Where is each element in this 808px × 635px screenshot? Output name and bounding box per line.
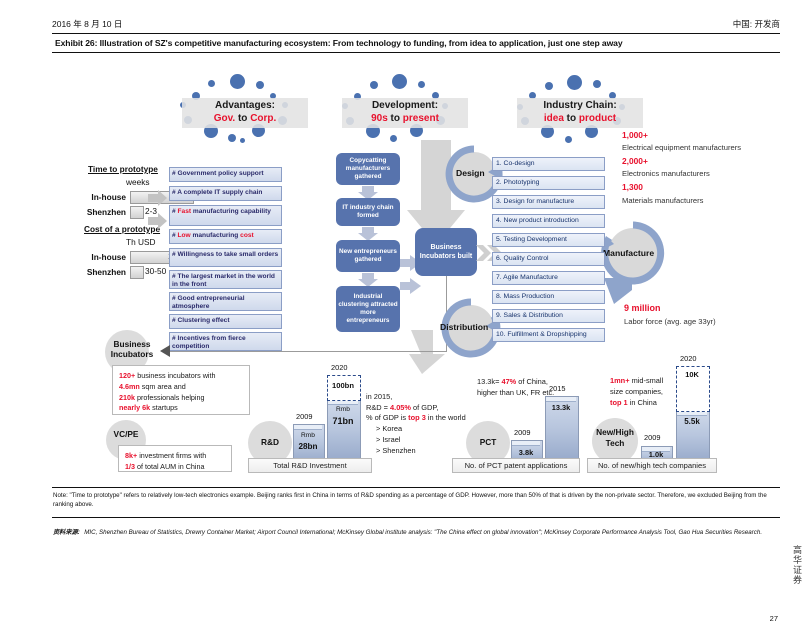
gdp-note-item-3: > Shenzhen (366, 446, 466, 457)
chain-step-8: 8. Mass Production (492, 290, 605, 304)
incubator-line-2: 4.6mn sqm area and (119, 382, 243, 393)
advantage-item-4: # Low manufacturing cost (169, 229, 282, 244)
arrow-down-icon (358, 273, 378, 287)
incubator-line-4: nearly 6k startups (119, 403, 243, 414)
incubator-line-3: 210k professionals helping (119, 393, 243, 404)
footer-divider-bottom (52, 517, 780, 518)
time-row-shenzhen-bar (130, 206, 144, 219)
development-box-3: New entrepreneurs gathered (336, 240, 400, 272)
pct-bar-2015-cap (546, 397, 576, 402)
labor-force-text: Labor force (avg. age 33yr) (624, 317, 716, 326)
chain-step-7: 7. Agile Manufacture (492, 271, 605, 285)
cluster-advantages-label: Advantages: Gov. to Corp. (182, 98, 308, 128)
tech-note-line-2: size companies, (610, 386, 663, 397)
pct-badge-label: PCT (466, 437, 510, 447)
stat-3-text: Materials manufacturers (622, 196, 703, 205)
advantage-item-7: # Good entrepreneurial atmosphere (169, 292, 282, 311)
rnd-chart-title: Total R&D Investment (248, 458, 372, 473)
cost-row-inhouse-label: In-house (78, 252, 126, 262)
advantage-item-2: # A complete IT supply chain (169, 186, 282, 201)
exhibit-divider (52, 52, 780, 53)
newhightech-badge-label: New/High Tech (588, 427, 642, 449)
tech-year-2009: 2009 (644, 433, 660, 442)
advantage-item-6: # The largest market in the world in the… (169, 270, 282, 289)
vcpe-callout: 8k+ investment firms with 1/3 of total A… (118, 445, 232, 472)
vcpe-line-2: 1/3 of total AUM in China (125, 462, 225, 473)
development-box-1: Copycatting manufacturers gathered (336, 153, 400, 185)
pct-bar-2009-cap (512, 441, 540, 446)
rnd-value-2015: 71bn (327, 416, 359, 426)
gdp-note-line-3: % of GDP is top 3 in the world (366, 413, 466, 424)
chain-step-1: 1. Co-design (492, 157, 605, 171)
time-to-prototype-title: Time to prototype (88, 164, 158, 174)
footer-divider-top (52, 487, 780, 488)
arrow-right-icon (148, 213, 168, 229)
chain-step-6: 6. Quality Control (492, 252, 605, 266)
tech-note-line-1: 1mn+ mid-small (610, 375, 663, 386)
gdp-note-line-1: in 2015, (366, 392, 466, 403)
pct-value-2015: 13.3k (545, 403, 577, 412)
chain-step-5: 5. Testing Development (492, 233, 605, 247)
header-right-label: 中国: 开发商 (733, 18, 780, 30)
stat-2-number: 2,000+ (622, 156, 648, 166)
callout-pointer-icon (604, 278, 632, 304)
chain-step-2: 2. Phototyping (492, 176, 605, 190)
time-row-shenzhen-label: Shenzhen (78, 207, 126, 217)
rnd-year-2009: 2009 (296, 412, 312, 421)
labor-force-number: 9 million (624, 303, 661, 313)
advantage-item-3: # Fast manufacturing capability (169, 205, 282, 226)
pct-note: 13.3k= 47% of China, higher than UK, FR … (477, 377, 554, 398)
tech-year-2020: 2020 (680, 354, 696, 363)
pct-note-line-2: higher than UK, FR etc. (477, 388, 554, 399)
advantage-item-1: # Government policy support (169, 167, 282, 182)
footer-source-text: MIC, Shenzhen Bureau of Statistics, Drew… (84, 529, 762, 536)
chain-step-9: 9. Sales & Distribution (492, 309, 605, 323)
cluster-development-label: Development: 90s to present (342, 98, 468, 128)
header-divider (52, 33, 780, 34)
gdp-note-item-2: > Israel (366, 435, 466, 446)
rnd-value-2020: 100bn (327, 381, 359, 390)
stat-1-number: 1,000+ (622, 130, 648, 140)
pct-value-2009: 3.8k (511, 448, 541, 457)
stat-2-text: Electronics manufacturers (622, 169, 710, 178)
vcpe-line-1: 8k+ investment firms with (125, 451, 225, 462)
business-incubators-callout: 120+ business incubators with 4.6mn sqm … (112, 365, 250, 415)
footer-note: Note: "Time to prototype" refers to rela… (53, 492, 779, 510)
tech-value-2020: 10K (676, 370, 708, 379)
rnd-year-2020: 2020 (331, 363, 347, 372)
time-row-inhouse-label: In-house (78, 192, 126, 202)
rnd-unit-2015: Rmb (327, 406, 359, 413)
cluster-industry-chain-label: Industry Chain: idea to product (517, 98, 643, 128)
pct-year-2009: 2009 (514, 428, 530, 437)
cost-row-shenzhen-bar (130, 266, 144, 279)
advantage-item-5: # Willingness to take small orders (169, 248, 282, 267)
tech-value-2015: 5.5k (676, 417, 708, 426)
rnd-badge-label: R&D (248, 437, 292, 447)
business-incubators-badge-label: Business Incubators (96, 339, 168, 360)
pct-year-2015: 2015 (549, 384, 565, 393)
arrow-right-icon (148, 190, 168, 206)
page-number: 27 (770, 614, 778, 623)
chain-step-4: 4. New product introduction (492, 214, 605, 228)
gdp-note: in 2015, R&D = 4.05% of GDP, % of GDP is… (366, 392, 466, 456)
gdp-note-item-1: > Korea (366, 424, 466, 435)
footer-source: 资料来源: MIC, Shenzhen Bureau of Statistics… (53, 521, 779, 539)
gdp-note-line-2: R&D = 4.05% of GDP, (366, 403, 466, 414)
exhibit-title: Exhibit 26: Illustration of SZ's competi… (55, 38, 623, 48)
advantage-item-9: # Incentives from fierce competition (169, 332, 282, 351)
development-box-2: IT industry chain formed (336, 198, 400, 226)
time-to-prototype-unit: weeks (126, 177, 150, 187)
slide-page: 2016 年 8 月 10 日 中国: 开发商 Exhibit 26: Illu… (0, 0, 808, 635)
arrow-right-icon (400, 278, 422, 294)
vcpe-badge-label: VC/PE (106, 429, 146, 439)
rnd-bar-2009-cap (294, 425, 322, 430)
tech-note-line-3: top 1 in China (610, 397, 663, 408)
stat-1-text: Electrical equipment manufacturers (622, 143, 741, 152)
cost-of-prototype-unit: Th USD (126, 237, 156, 247)
business-incubators-built-box: Business Incubators built (415, 228, 477, 276)
arrow-down-icon (358, 227, 378, 241)
advantage-item-8: # Clustering effect (169, 314, 282, 329)
distribution-badge-label: Distribution (440, 322, 488, 332)
pct-chart-title: No. of PCT patent applications (452, 458, 580, 473)
cost-row-shenzhen-label: Shenzhen (78, 267, 126, 277)
manufacture-badge-label: Manufacture (603, 248, 654, 258)
chain-step-3: 3. Design for manufacture (492, 195, 605, 209)
design-badge-label: Design (456, 168, 485, 178)
side-watermark: 高华证券 (792, 545, 804, 625)
incubator-line-1: 120+ business incubators with (119, 371, 243, 382)
cost-row-shenzhen-value: 30-50 (145, 266, 166, 276)
rnd-unit-2009: Rmb (293, 432, 323, 439)
newhightech-chart-title: No. of new/high tech companies (587, 458, 717, 473)
connector-horizontal (168, 351, 446, 352)
footer-source-label: 资料来源: (53, 529, 80, 536)
rnd-value-2009: 28bn (293, 442, 323, 451)
stat-3-number: 1,300 (622, 182, 643, 192)
pct-note-line-1: 13.3k= 47% of China, (477, 377, 554, 388)
tech-note: 1mn+ mid-small size companies, top 1 in … (610, 375, 663, 408)
development-box-4: Industrial clustering attracted more ent… (336, 286, 400, 332)
cluster-development: Development: 90s to present (330, 72, 480, 146)
cluster-advantages: Advantages: Gov. to Corp. (170, 72, 320, 146)
chain-step-10: 10. Fulfillment & Dropshipping (492, 328, 605, 342)
header-date: 2016 年 8 月 10 日 (52, 18, 122, 30)
